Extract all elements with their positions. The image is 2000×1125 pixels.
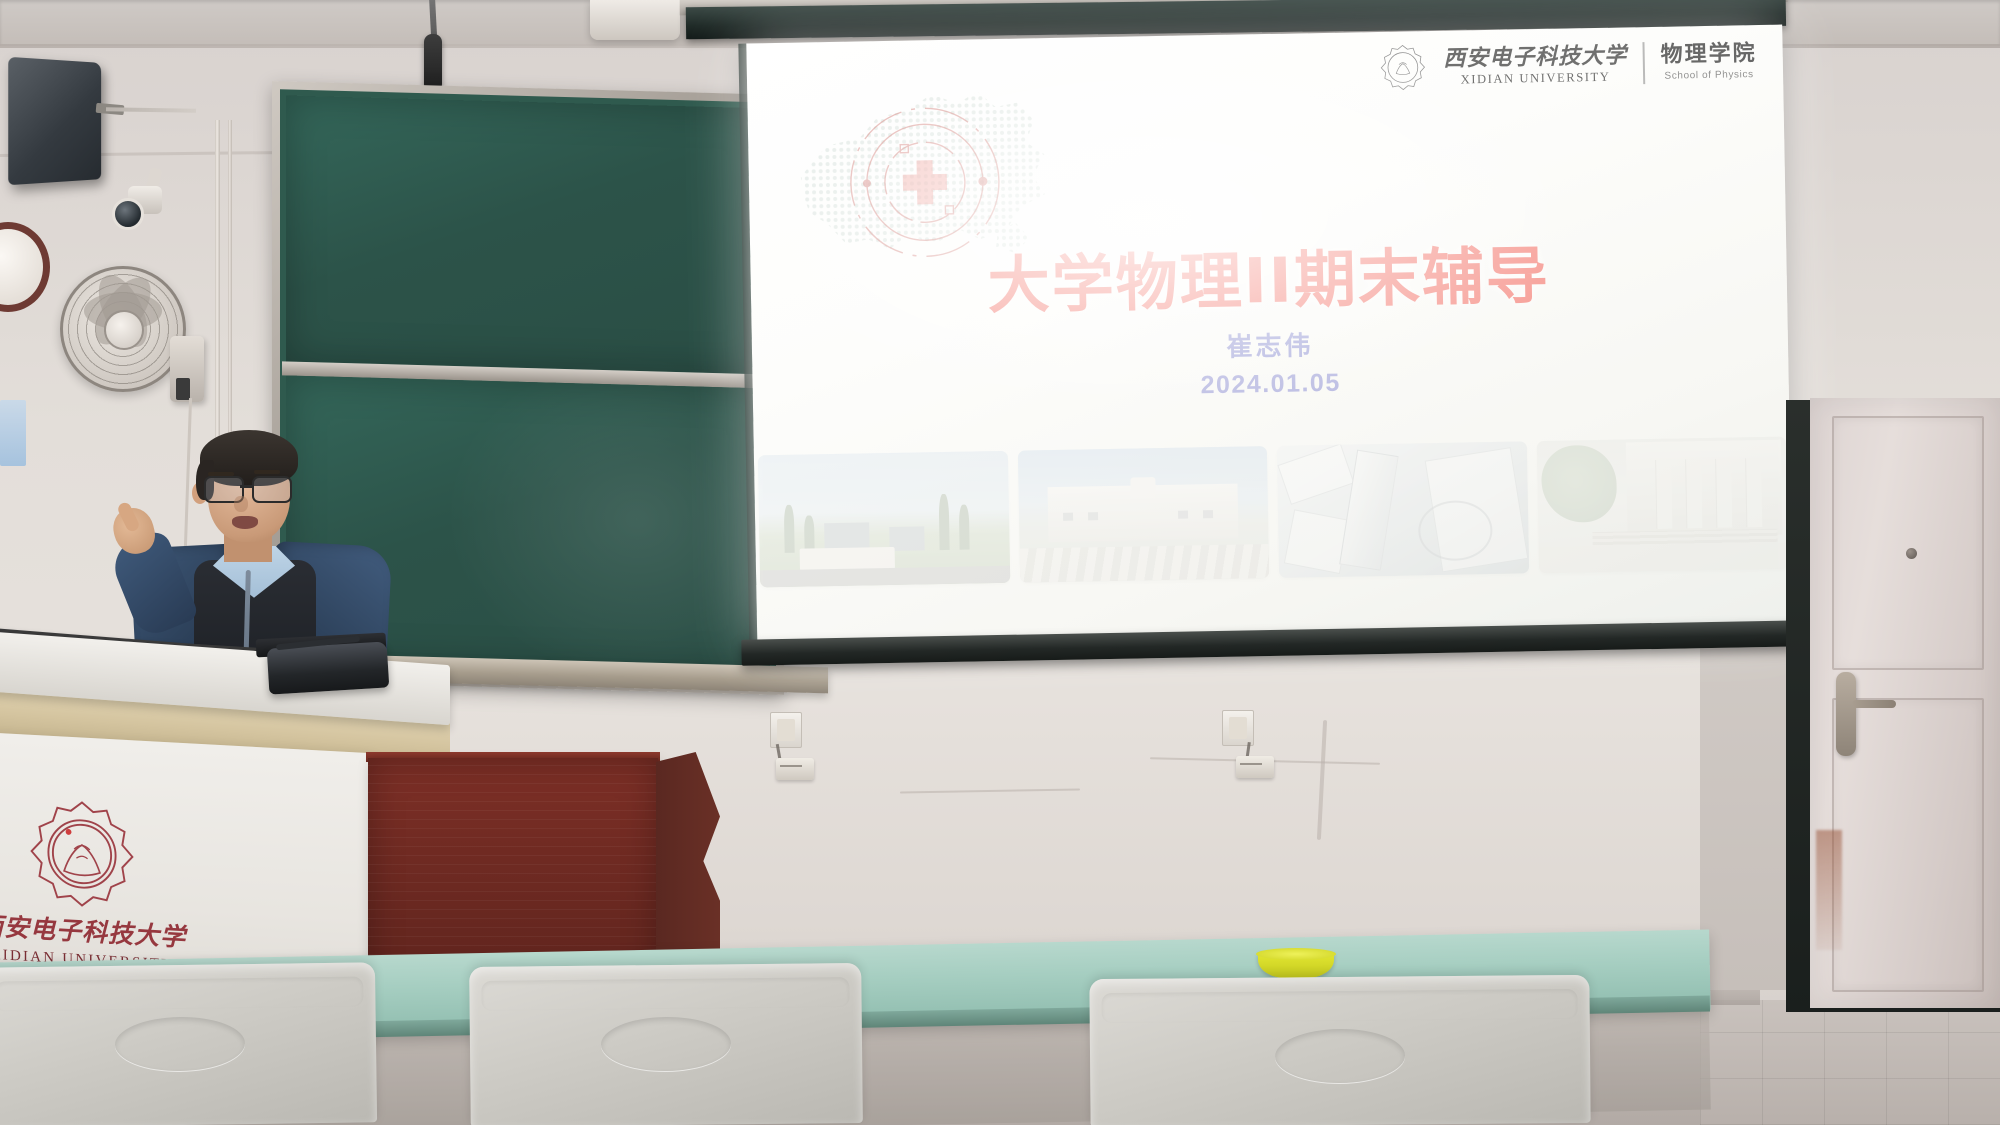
door-panel-top bbox=[1832, 416, 1984, 670]
floor-tiles bbox=[1700, 1000, 2000, 1125]
chalkboard-panel-top bbox=[286, 95, 770, 374]
wall-conduit bbox=[228, 120, 232, 450]
power-adapter-left bbox=[776, 758, 814, 780]
lecture-hall-photo: 西安电子科技大学 XIDIAN UNIVERSITY 物理学院 School o… bbox=[0, 0, 2000, 1125]
ceiling-light-icon bbox=[590, 0, 680, 40]
department-name-block: 物理学院 School of Physics bbox=[1660, 43, 1757, 82]
adapter-label bbox=[780, 765, 802, 767]
seat-notch bbox=[1101, 989, 1577, 1023]
wall-outlet-left[interactable] bbox=[770, 712, 802, 748]
adapter-label bbox=[1240, 763, 1262, 765]
university-name-en: XIDIAN UNIVERSITY bbox=[1461, 70, 1611, 85]
door-handle[interactable] bbox=[1836, 672, 1856, 756]
wall-fan-icon bbox=[60, 266, 186, 392]
wall-notice bbox=[0, 400, 26, 466]
outlet-face bbox=[777, 719, 795, 741]
eyebrow bbox=[254, 470, 280, 474]
campus-photo bbox=[758, 451, 1010, 588]
slide-content: 西安电子科技大学 XIDIAN UNIVERSITY 物理学院 School o… bbox=[746, 25, 1793, 648]
camera-lens-icon bbox=[112, 198, 144, 230]
outlet-face bbox=[1229, 717, 1247, 739]
door-rust-stain bbox=[1816, 830, 1842, 950]
eyeglasses-icon bbox=[202, 476, 294, 500]
lecture-seat[interactable] bbox=[0, 962, 377, 1125]
wall-speaker-icon bbox=[8, 57, 101, 185]
projection-screen: 西安电子科技大学 XIDIAN UNIVERSITY 物理学院 School o… bbox=[746, 9, 1794, 688]
mouth bbox=[232, 516, 258, 529]
power-adapter-right bbox=[1236, 756, 1274, 778]
wall-conduit bbox=[215, 120, 220, 450]
slide-title: 大学物理II期末辅导 bbox=[750, 221, 1787, 330]
department-name-en: School of Physics bbox=[1664, 70, 1753, 82]
slide-photo-strip bbox=[756, 437, 1790, 588]
door-peephole-icon bbox=[1906, 548, 1917, 559]
campus-photo bbox=[1017, 446, 1269, 583]
nose bbox=[234, 496, 248, 512]
university-seal-icon bbox=[1379, 43, 1428, 92]
basket-rim bbox=[1256, 948, 1336, 960]
fan-switch[interactable] bbox=[176, 378, 190, 400]
podium-branding: 西安电子科技大学 XIDIAN UNIVERSITY bbox=[0, 792, 192, 976]
department-name-cn: 物理学院 bbox=[1660, 43, 1756, 67]
seat-dimple bbox=[115, 1016, 246, 1072]
ceiling-microphone-icon bbox=[424, 34, 442, 92]
seat-dimple bbox=[601, 1016, 732, 1071]
podium-seal-icon bbox=[0, 792, 192, 917]
lecture-seat[interactable] bbox=[1089, 975, 1590, 1125]
slide-logo-lockup: 西安电子科技大学 XIDIAN UNIVERSITY 物理学院 School o… bbox=[1379, 37, 1757, 92]
seat-notch bbox=[481, 977, 849, 1011]
campus-photo bbox=[1536, 437, 1788, 574]
seat-notch bbox=[0, 976, 363, 1011]
lens-right bbox=[252, 476, 292, 503]
university-name-cn: 西安电子科技大学 bbox=[1443, 44, 1627, 69]
glasses-bridge bbox=[240, 485, 254, 488]
seat-dimple bbox=[1275, 1028, 1405, 1083]
wall-outlet-right[interactable] bbox=[1222, 710, 1254, 746]
logo-divider bbox=[1643, 42, 1645, 84]
campus-photo bbox=[1277, 441, 1529, 578]
lecture-seat[interactable] bbox=[469, 963, 863, 1125]
door-lever[interactable] bbox=[1852, 700, 1896, 708]
projected-slide: 西安电子科技大学 XIDIAN UNIVERSITY 物理学院 School o… bbox=[746, 25, 1793, 648]
university-name-block: 西安电子科技大学 XIDIAN UNIVERSITY bbox=[1443, 44, 1628, 86]
fan-hub bbox=[104, 310, 144, 350]
